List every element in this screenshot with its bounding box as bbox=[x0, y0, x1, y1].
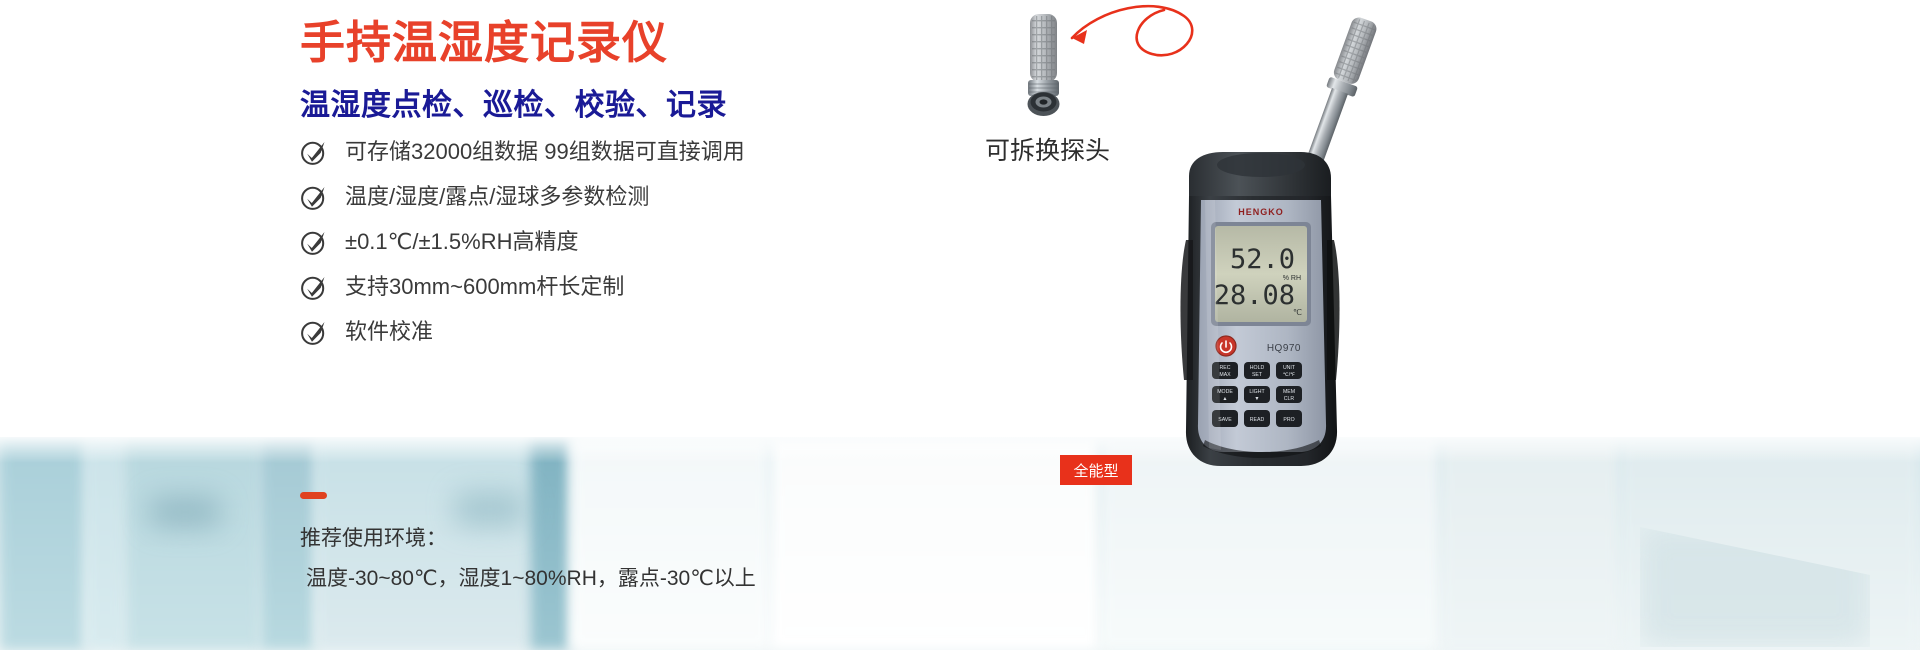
band-top-fade bbox=[0, 437, 1920, 463]
check-circle-icon bbox=[300, 274, 327, 301]
probe-label: 可拆换探头 bbox=[985, 131, 1110, 167]
list-item: 支持30mm~600mm杆长定制 bbox=[300, 267, 1000, 307]
svg-text:SAVE: SAVE bbox=[1218, 417, 1232, 423]
svg-text:▼: ▼ bbox=[1254, 396, 1259, 402]
list-item-label: 支持30mm~600mm杆长定制 bbox=[345, 276, 624, 298]
list-item: 温度/湿度/露点/湿球多参数检测 bbox=[300, 177, 1000, 217]
band-stripe bbox=[0, 437, 85, 650]
page-subtitle: 温湿度点检、巡检、校验、记录 bbox=[300, 80, 727, 124]
svg-text:UNIT: UNIT bbox=[1283, 365, 1296, 371]
feature-list: 可存储32000组数据 99组数据可直接调用 温度/湿度/露点/湿球多参数检测 … bbox=[300, 132, 1000, 357]
svg-text:READ: READ bbox=[1250, 417, 1265, 423]
band-stripe bbox=[1440, 437, 1620, 650]
list-item-label: ±0.1℃/±1.5%RH高精度 bbox=[345, 231, 578, 253]
status-badge: 全能型 bbox=[1060, 455, 1132, 485]
environment-detail: 温度-30~80℃，湿度1~80%RH，露点-30℃以上 bbox=[306, 562, 756, 592]
band-blur-blob bbox=[150, 497, 220, 527]
list-item: 可存储32000组数据 99组数据可直接调用 bbox=[300, 132, 1000, 172]
environment-heading: 推荐使用环境： bbox=[300, 522, 447, 552]
svg-text:28.08: 28.08 bbox=[1214, 280, 1295, 311]
section-divider-dash bbox=[300, 492, 327, 499]
list-item-label: 温度/湿度/露点/湿球多参数检测 bbox=[345, 186, 649, 208]
product-device-image: HENGKO 52.0 % RH 28.08 ℃ HQ970 bbox=[1105, 0, 1435, 500]
band-stripe bbox=[530, 437, 570, 650]
background-photo-band bbox=[0, 437, 1920, 650]
svg-text:CLR: CLR bbox=[1284, 396, 1295, 402]
band-stripe bbox=[85, 437, 125, 650]
svg-text:LIGHT: LIGHT bbox=[1249, 389, 1265, 395]
check-circle-icon bbox=[300, 319, 327, 346]
svg-text:℃: ℃ bbox=[1293, 308, 1302, 317]
svg-text:HQ970: HQ970 bbox=[1267, 343, 1301, 354]
svg-text:PRO: PRO bbox=[1283, 417, 1294, 423]
svg-text:℃/℉: ℃/℉ bbox=[1283, 372, 1295, 378]
svg-text:MAX: MAX bbox=[1219, 372, 1231, 378]
list-item-label: 软件校准 bbox=[345, 321, 433, 343]
band-stripe bbox=[770, 437, 1100, 650]
check-circle-icon bbox=[300, 139, 327, 166]
svg-text:▲: ▲ bbox=[1222, 396, 1227, 402]
svg-text:52.0: 52.0 bbox=[1230, 244, 1295, 275]
svg-text:REC: REC bbox=[1220, 365, 1231, 371]
svg-text:MEM: MEM bbox=[1283, 389, 1295, 395]
list-item: 软件校准 bbox=[300, 312, 1000, 352]
band-stripe bbox=[570, 437, 770, 650]
product-banner: 手持温湿度记录仪 温湿度点检、巡检、校验、记录 可存储32000组数据 99组数… bbox=[0, 0, 1920, 650]
check-circle-icon bbox=[300, 184, 327, 211]
svg-text:SET: SET bbox=[1252, 372, 1263, 378]
band-blur-blob bbox=[455, 492, 525, 526]
band-stripe bbox=[125, 437, 260, 650]
page-title: 手持温湿度记录仪 bbox=[300, 6, 668, 71]
list-item: ±0.1℃/±1.5%RH高精度 bbox=[300, 222, 1000, 262]
list-item-label: 可存储32000组数据 99组数据可直接调用 bbox=[345, 141, 745, 163]
svg-text:HOLD: HOLD bbox=[1250, 365, 1265, 371]
svg-text:HENGKO: HENGKO bbox=[1238, 207, 1284, 217]
check-circle-icon bbox=[300, 229, 327, 256]
